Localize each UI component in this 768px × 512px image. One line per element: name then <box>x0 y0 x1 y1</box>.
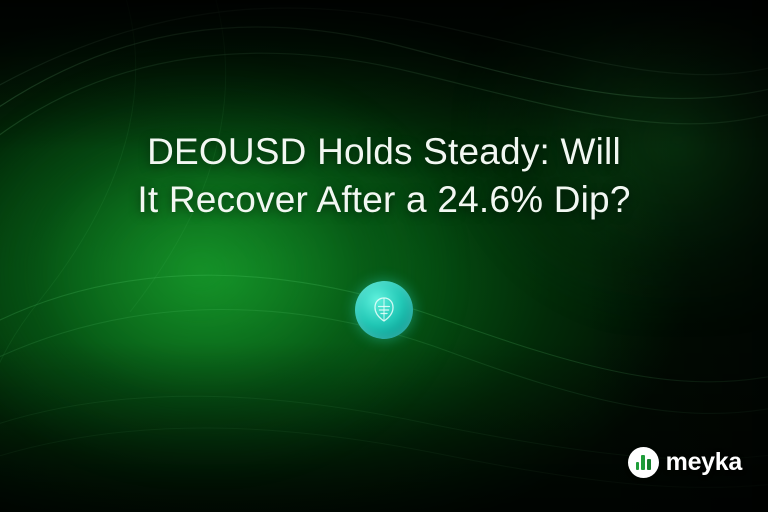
deousd-coin-icon <box>355 281 413 339</box>
meyka-bars-logo <box>628 447 659 478</box>
brand-name: meyka <box>666 448 742 477</box>
banner-content: DEOUSD Holds Steady: Will It Recover Aft… <box>0 0 768 512</box>
banner-canvas: DEOUSD Holds Steady: Will It Recover Aft… <box>0 0 768 512</box>
headline-title: DEOUSD Holds Steady: Will It Recover Aft… <box>34 128 734 224</box>
logo-bars-icon <box>636 455 651 470</box>
brand-logo: meyka <box>628 447 742 478</box>
